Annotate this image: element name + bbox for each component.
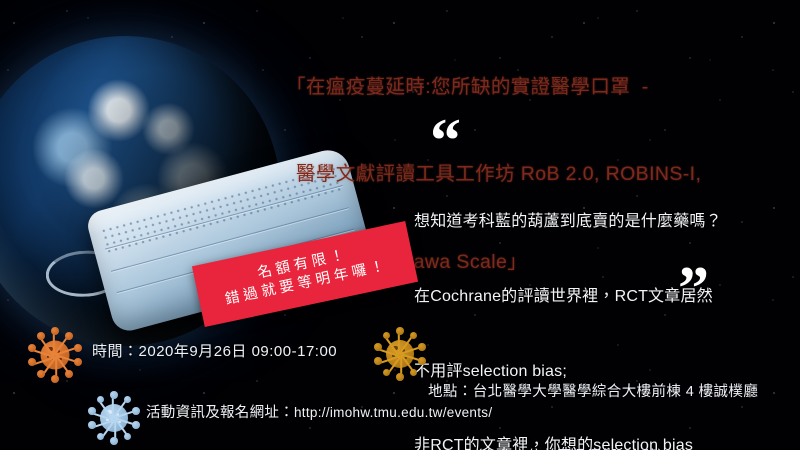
- virus-spike-knob: [65, 332, 73, 340]
- virus-spike-knob: [51, 375, 59, 383]
- virus-spike-knob: [51, 327, 59, 335]
- virus-spike-knob: [410, 369, 418, 377]
- title-line-1: 「在瘟疫蔓延時:您所缺的實證醫學口罩 -: [286, 73, 786, 102]
- virus-spike-knob: [37, 332, 45, 340]
- event-time: 時間：2020年9月26日 09:00-17:00: [92, 340, 337, 361]
- virus-spike-knob: [418, 357, 426, 365]
- virus-spike-knob: [28, 358, 36, 366]
- virus-spike-knob: [383, 369, 391, 377]
- virus-spike-knob: [374, 343, 382, 351]
- event-poster: 「在瘟疫蔓延時:您所缺的實證醫學口罩 - 醫學文獻評讀工具工作坊 RoB 2.0…: [0, 0, 800, 450]
- virus-spike-knob: [88, 407, 96, 415]
- virus-spike-knob: [418, 343, 426, 351]
- virus-spike-knob: [124, 396, 132, 404]
- virus-spike-knob: [37, 370, 45, 378]
- virus-spike-knob: [132, 421, 140, 429]
- virus-spike-knob: [74, 358, 82, 366]
- virus-spike-knob: [374, 357, 382, 365]
- virus-spike-knob: [396, 327, 404, 335]
- virus-spike-knob: [110, 437, 118, 445]
- virus-icon-gold: [372, 326, 428, 382]
- quote-line: 想知道考科藍的葫蘆到底賣的是什麼藥嗎？: [414, 210, 794, 235]
- event-time-label: 時間：: [92, 343, 139, 360]
- virus-spike-knob: [88, 421, 96, 429]
- virus-spike-knob: [396, 373, 404, 381]
- event-location-venue: 台北醫學大學醫學綜合大樓前棟 4 樓誠樸廳: [473, 384, 759, 400]
- event-location: 地點：台北醫學大學醫學綜合大樓前棟 4 樓誠樸廳 （台北市信義區吳興街250號）: [428, 338, 758, 450]
- virus-spike-knob: [65, 370, 73, 378]
- virus-spike-knob: [132, 407, 140, 415]
- virus-spike-knob: [110, 391, 118, 399]
- virus-spike-knob: [74, 344, 82, 352]
- quote-line: 在Cochrane的評讀世界裡，RCT文章居然: [414, 285, 794, 310]
- event-location-label: 地點：: [428, 384, 473, 400]
- registration-url[interactable]: http://imohw.tmu.edu.tw/events/: [294, 405, 492, 420]
- virus-spike-knob: [28, 344, 36, 352]
- virus-spike-knob: [97, 396, 105, 404]
- virus-spike-knob: [410, 332, 418, 340]
- virus-icon-orange: [26, 326, 84, 384]
- virus-spike-knob: [124, 433, 132, 441]
- virus-spike-knob: [97, 433, 105, 441]
- quote-close-mark: ”: [678, 258, 709, 320]
- event-time-value: 2020年9月26日 09:00-17:00: [139, 343, 338, 360]
- registration-label: 活動資訊及報名網址：: [146, 405, 294, 421]
- virus-icon-blue: [86, 390, 142, 446]
- registration-info: 活動資訊及報名網址：http://imohw.tmu.edu.tw/events…: [146, 401, 492, 422]
- event-location-line-1: 地點：台北醫學大學醫學綜合大樓前棟 4 樓誠樸廳: [428, 382, 758, 404]
- virus-spike-knob: [383, 332, 391, 340]
